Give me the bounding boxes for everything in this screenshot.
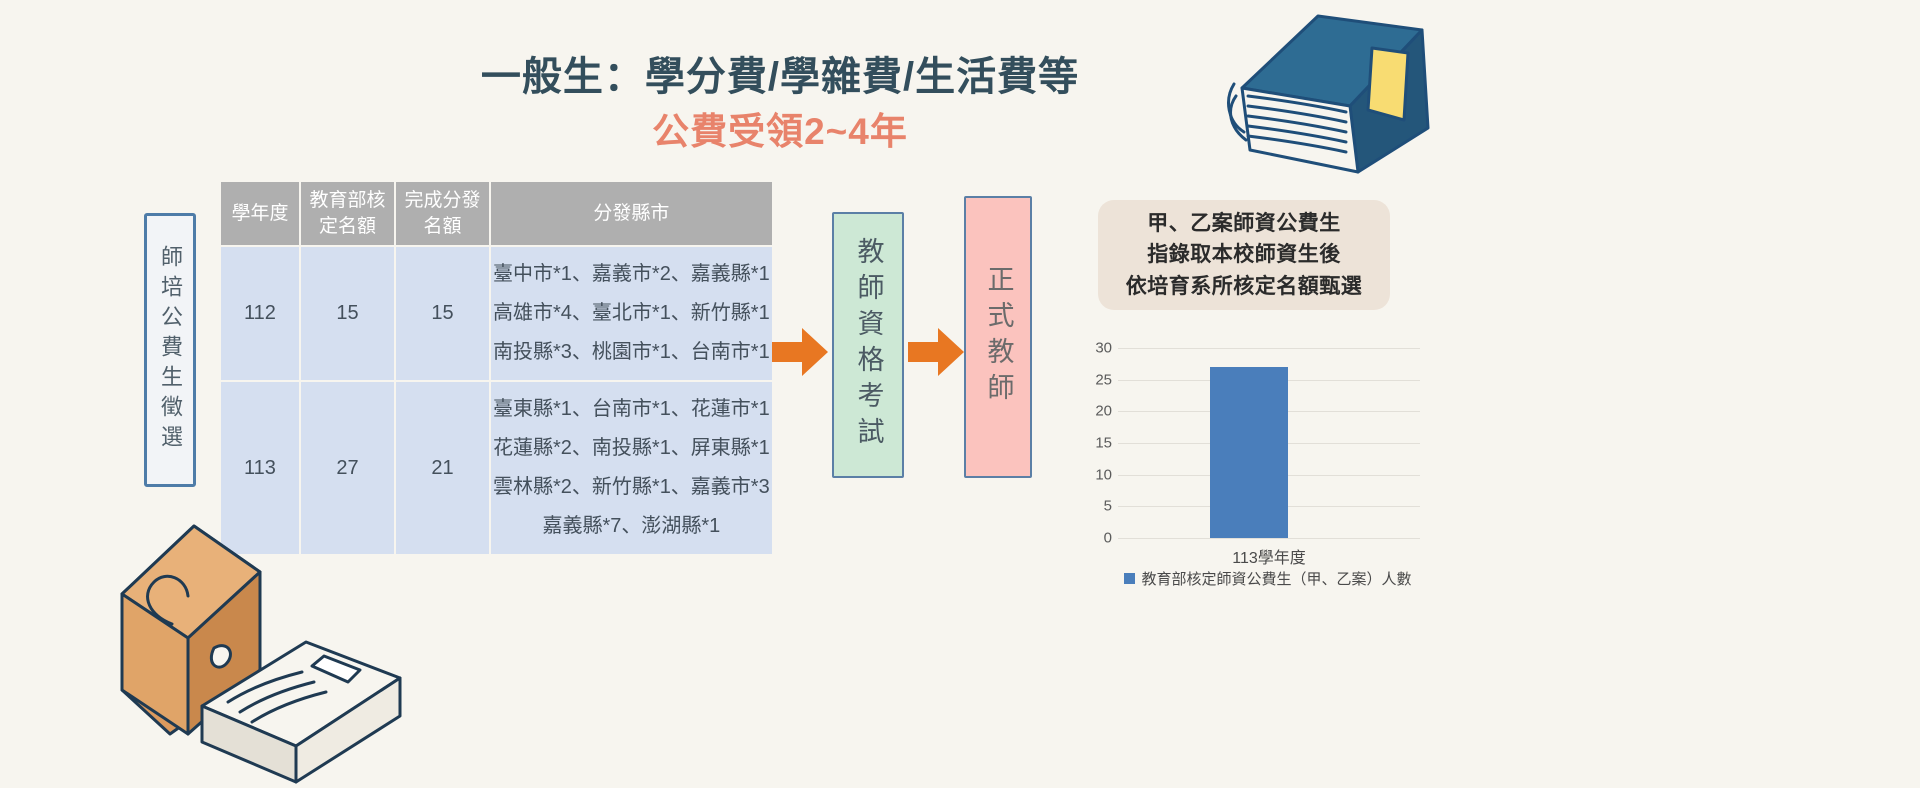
flow-step-teacher-label: 正式教師 [985, 265, 1012, 409]
table-header-row: 學年度 教育部核定名額 完成分發名額 分發縣市 [220, 181, 773, 246]
column-header-year: 學年度 [220, 181, 300, 246]
flow-step-exam-label: 教師資格考試 [855, 237, 882, 453]
cell-distribution: 臺中市*1、嘉義市*2、嘉義縣*1 高雄市*4、臺北市*1、新竹縣*1 南投縣*… [490, 246, 773, 381]
distribution-line: 花蓮縣*2、南投縣*1、屏東縣*1 [493, 429, 770, 468]
school-bag-illustration-icon [110, 520, 410, 788]
distribution-line: 雲林縣*2、新竹縣*1、嘉義市*3 [493, 468, 770, 507]
bar-chart: 051015202530 113學年度 [1090, 348, 1420, 558]
column-header-distribution: 分發縣市 [490, 181, 773, 246]
column-header-approved: 教育部核定名額 [300, 181, 395, 246]
info-line: 依培育系所核定名額甄選 [1126, 271, 1363, 303]
legend-color-swatch [1124, 573, 1135, 584]
distribution-line: 高雄市*4、臺北市*1、新竹縣*1 [493, 294, 770, 333]
legend-label: 教育部核定師資公費生（甲、乙案）人數 [1141, 568, 1411, 589]
cell-distribution: 臺東縣*1、台南市*1、花蓮市*1 花蓮縣*2、南投縣*1、屏東縣*1 雲林縣*… [490, 381, 773, 555]
chart-gridline [1118, 348, 1420, 349]
distribution-line: 臺東縣*1、台南市*1、花蓮市*1 [493, 390, 770, 429]
cell-approved: 15 [300, 246, 395, 381]
chart-plot-area: 051015202530 [1118, 348, 1420, 538]
cell-year: 112 [220, 246, 300, 381]
chart-gridline [1118, 538, 1420, 539]
chart-y-tick-label: 0 [1104, 530, 1112, 547]
flow-step-teacher[interactable]: 正式教師 [964, 196, 1032, 478]
open-book-illustration-icon [1222, 0, 1442, 185]
table-row: 112 15 15 臺中市*1、嘉義市*2、嘉義縣*1 高雄市*4、臺北市*1、… [220, 246, 773, 381]
sidebar-item-selection-box[interactable]: 師培公費生徵選 [144, 213, 196, 487]
chart-bar [1210, 367, 1288, 538]
chart-x-tick-label: 113學年度 [1118, 544, 1420, 568]
chart-y-tick-label: 25 [1095, 371, 1112, 388]
chart-legend: 教育部核定師資公費生（甲、乙案）人數 [1118, 568, 1418, 589]
selection-box-label: 師培公費生徵選 [159, 245, 181, 455]
flow-step-exam[interactable]: 教師資格考試 [832, 212, 904, 478]
chart-y-tick-label: 30 [1095, 340, 1112, 357]
distribution-line: 嘉義縣*7、澎湖縣*1 [493, 507, 770, 546]
info-line: 甲、乙案師資公費生 [1147, 208, 1341, 240]
arrow-right-icon [772, 326, 828, 378]
arrow-right-icon [908, 326, 964, 378]
distribution-line: 南投縣*3、桃園市*1、台南市*1 [493, 333, 770, 372]
cell-assigned: 15 [395, 246, 490, 381]
allocation-table: 學年度 教育部核定名額 完成分發名額 分發縣市 112 15 15 臺中市*1、… [219, 180, 774, 556]
chart-y-tick-label: 20 [1095, 403, 1112, 420]
chart-y-tick-label: 15 [1095, 435, 1112, 452]
column-header-assigned: 完成分發名額 [395, 181, 490, 246]
chart-y-tick-label: 5 [1104, 498, 1112, 515]
distribution-line: 臺中市*1、嘉義市*2、嘉義縣*1 [493, 255, 770, 294]
info-line: 指錄取本校師資生後 [1147, 239, 1341, 271]
slide-canvas: 一般生：學分費/學雜費/生活費等 公費受領2~4年 師培公費生徵選 學年度 [0, 0, 1920, 788]
chart-y-tick-label: 10 [1095, 466, 1112, 483]
info-callout: 甲、乙案師資公費生 指錄取本校師資生後 依培育系所核定名額甄選 [1098, 200, 1390, 310]
